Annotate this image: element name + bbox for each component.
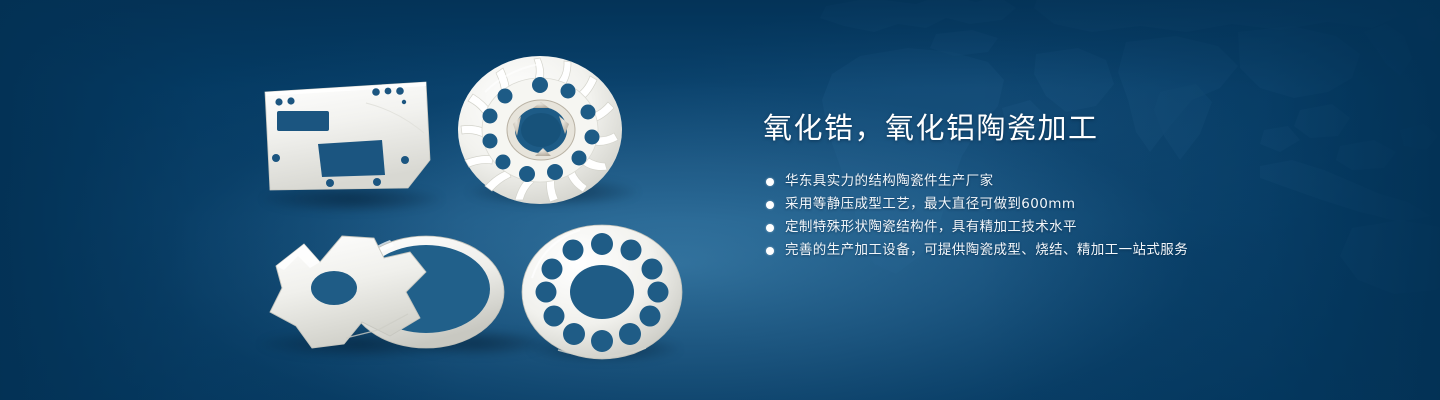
ceramic-cross-and-ring-group (258, 226, 516, 354)
list-item: 完善的生产加工设备，可提供陶瓷成型、烧结、精加工一站式服务 (766, 239, 1383, 262)
ceramic-machined-plate (258, 78, 436, 196)
list-item-label: 完善的生产加工设备，可提供陶瓷成型、烧结、精加工一站式服务 (785, 239, 1188, 262)
list-item: 定制特殊形状陶瓷结构件，具有精加工技术水平 (766, 216, 1383, 239)
bullet-dot-icon (766, 247, 774, 255)
banner-feature-list: 华东具实力的结构陶瓷件生产厂家 采用等静压成型工艺，最大直径可做到600mm 定… (766, 170, 1383, 262)
hero-banner: 氧化锆，氧化铝陶瓷加工 华东具实力的结构陶瓷件生产厂家 采用等静压成型工艺，最大… (0, 0, 1440, 400)
list-item-label: 采用等静压成型工艺，最大直径可做到600mm (785, 193, 1075, 216)
ceramic-perforated-disc (518, 222, 686, 362)
list-item-label: 华东具实力的结构陶瓷件生产厂家 (785, 170, 994, 193)
bullet-dot-icon (766, 224, 774, 232)
list-item-label: 定制特殊形状陶瓷结构件，具有精加工技术水平 (785, 216, 1077, 239)
bullet-dot-icon (766, 201, 774, 209)
ceramic-bladed-impeller (455, 52, 625, 204)
list-item: 华东具实力的结构陶瓷件生产厂家 (766, 170, 1383, 193)
list-item: 采用等静压成型工艺，最大直径可做到600mm (766, 193, 1383, 216)
product-photo-cluster (0, 0, 720, 400)
bullet-dot-icon (766, 178, 774, 186)
banner-headline: 氧化锆，氧化铝陶瓷加工 (763, 108, 1383, 148)
banner-copy: 氧化锆，氧化铝陶瓷加工 华东具实力的结构陶瓷件生产厂家 采用等静压成型工艺，最大… (763, 108, 1383, 262)
